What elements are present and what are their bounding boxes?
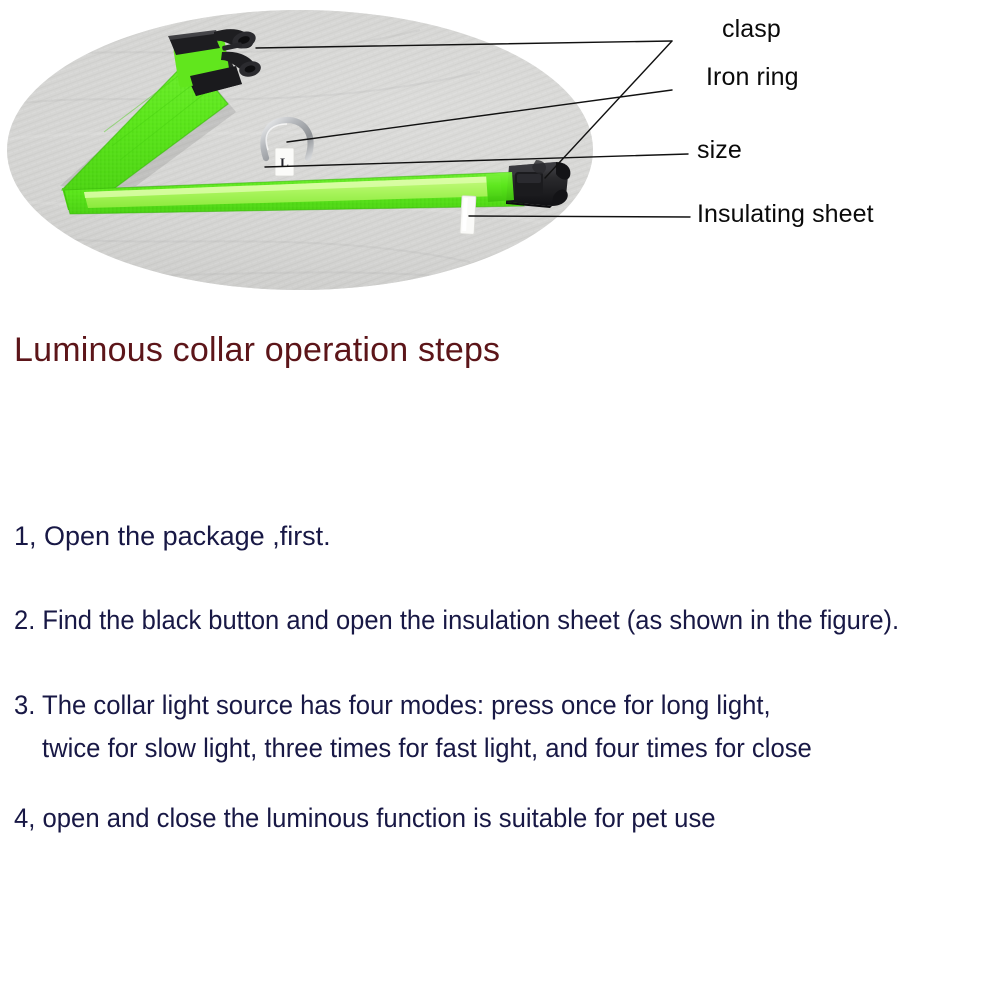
collar-photo-svg: L [0,0,1000,300]
page-title: Luminous collar operation steps [14,331,500,370]
leader-insulating [469,216,690,217]
step-item-3-line2: twice for slow light, three times for fa… [42,733,812,763]
svg-text:L: L [280,155,289,170]
callout-label-size: size [697,138,742,163]
insulating-sheet-tab [460,196,476,235]
side-release-clasp [506,160,570,208]
instruction-page: L [0,0,1000,1000]
step-item-2: 2. Find the black button and open the in… [14,605,899,635]
step-item-3-line1: 3. The collar light source has four mode… [14,690,771,720]
callout-label-insulating-sheet: Insulating sheet [697,202,874,227]
callout-label-clasp: clasp [722,17,781,42]
step-item-1: 1, Open the package ,first. [14,521,331,551]
product-photo-diagram: L [0,0,1000,300]
callout-label-iron-ring: Iron ring [706,65,799,90]
size-tag: L [275,148,294,176]
step-item-4: 4, open and close the luminous function … [14,803,716,833]
